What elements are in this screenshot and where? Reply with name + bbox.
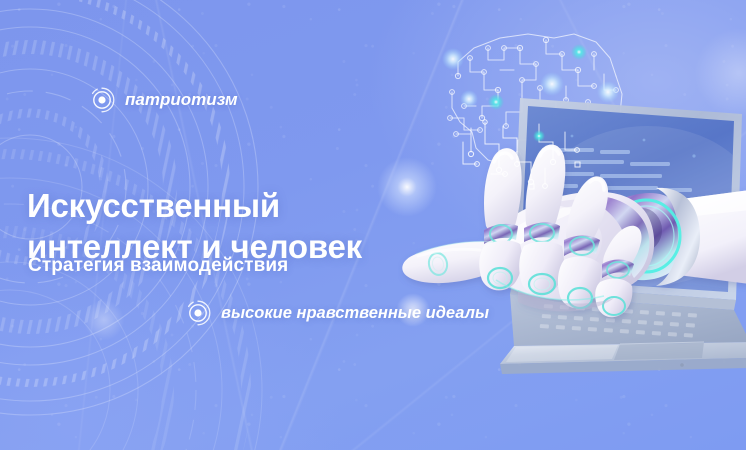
badge-moral-ideals-label: высокие нравственные идеалы [221,304,489,323]
banner-root: патриотизм Искусственный интеллект и чел… [0,0,746,450]
target-circle-icon [88,86,116,114]
target-circle-icon [184,299,212,327]
badge-patriotism-label: патриотизм [125,90,238,110]
hud-rings-secondary-icon [0,130,270,450]
circuit-traces-icon [455,118,585,198]
page-subtitle: Стратегия взаимодействия [28,255,288,277]
badge-patriotism: патриотизм [88,86,238,114]
headline-line-1: Искусственный [27,187,280,224]
badge-moral-ideals: высокие нравственные идеалы [184,299,489,327]
